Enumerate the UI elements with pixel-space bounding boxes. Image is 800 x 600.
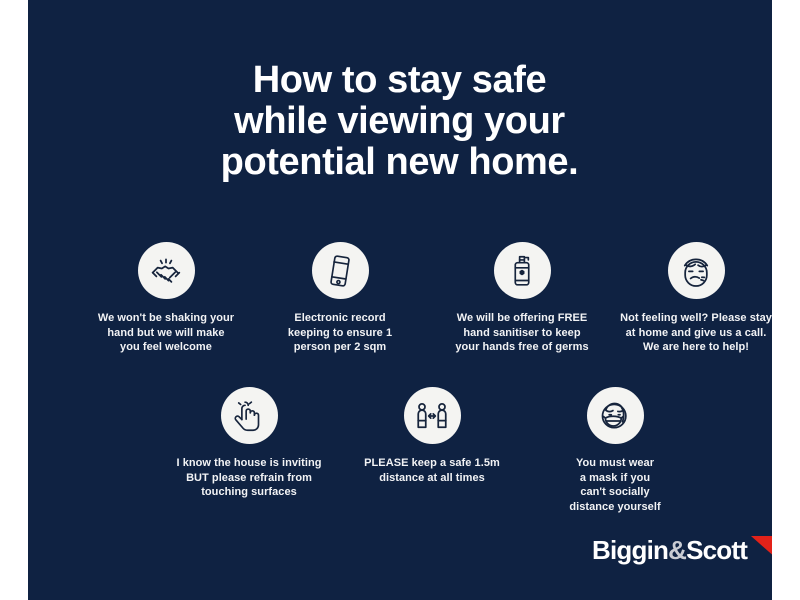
poster-canvas: How to stay safe while viewing your pote… [0,0,800,600]
title-line-1: How to stay safe [27,60,772,101]
title-line-2: while viewing your [27,101,772,142]
safety-tip-caption: Not feeling well? Please stay at home an… [611,311,772,355]
tapping-hand-icon [221,387,278,444]
left-letterbox-bar [0,0,28,600]
safety-tip-hand-sanitiser: We will be offering FREE hand sanitiser … [437,242,607,355]
right-letterbox-bar [772,0,800,600]
safety-tip-caption: PLEASE keep a safe 1.5m distance at all … [347,456,517,485]
logo-wordmark: Biggin&Scott [592,537,747,563]
face-mask-icon [587,387,644,444]
smartphone-icon [312,242,369,299]
safety-tip-wear-mask: You must wear a mask if you can't social… [530,387,700,514]
safety-tip-no-touching: I know the house is inviting BUT please … [164,387,334,500]
title-line-3: potential new home. [27,142,772,183]
logo-word-scott: Scott [686,535,747,565]
poster-board: How to stay safe while viewing your pote… [27,0,772,600]
safety-tip-caption: We won't be shaking your hand but we wil… [81,311,251,355]
biggin-and-scott-logo: Biggin&Scott [592,533,772,567]
hand-sanitiser-bottle-icon [494,242,551,299]
social-distance-icon [404,387,461,444]
safety-tip-caption: We will be offering FREE hand sanitiser … [437,311,607,355]
safety-tip-caption: You must wear a mask if you can't social… [530,456,700,514]
red-triangle-icon [751,534,772,566]
safety-tip-caption: I know the house is inviting BUT please … [164,456,334,500]
sick-face-icon [668,242,725,299]
page-title: How to stay safe while viewing your pote… [27,60,772,183]
safety-tip-caption: Electronic record keeping to ensure 1 pe… [255,311,425,355]
handshake-icon [138,242,195,299]
safety-tip-social-distance: PLEASE keep a safe 1.5m distance at all … [347,387,517,485]
logo-ampersand: & [668,535,686,565]
safety-tip-handshake: We won't be shaking your hand but we wil… [81,242,251,355]
safety-tip-electronic-record: Electronic record keeping to ensure 1 pe… [255,242,425,355]
safety-tip-not-feeling-well: Not feeling well? Please stay at home an… [611,242,772,355]
logo-word-biggin: Biggin [592,535,668,565]
